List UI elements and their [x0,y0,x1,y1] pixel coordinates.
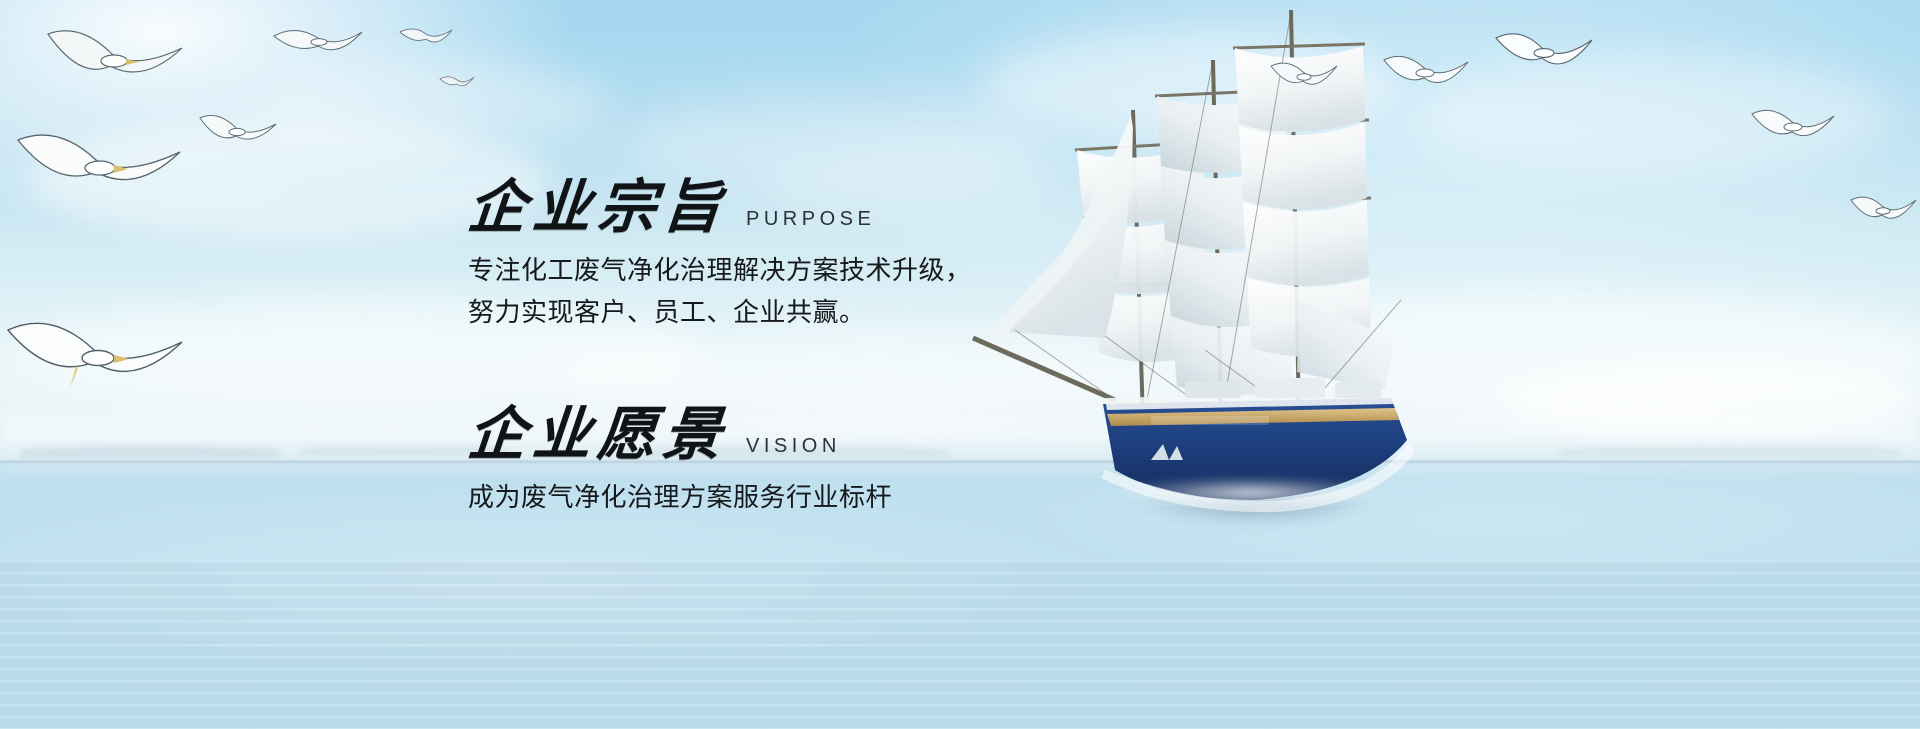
seagull-icon [1380,46,1472,100]
seagull-icon [196,106,280,158]
vision-block: 企业愿景 VISION 成为废气净化治理方案服务行业标杆 [468,405,1168,519]
purpose-heading-row: 企业宗旨 PURPOSE [468,178,1168,236]
seagull-icon [438,72,476,92]
sea-ripples-near [0,560,1920,729]
purpose-line-1: 专注化工废气净化治理解决方案技术升级， [468,252,1168,292]
vision-title-en: VISION [746,436,841,463]
vision-heading-row: 企业愿景 VISION [468,405,1168,463]
seagull-icon [40,18,190,104]
seagull-icon [1268,54,1340,98]
seagull-icon [12,118,188,214]
purpose-title-cn: 企业宗旨 [465,178,730,236]
seagull-icon [1492,22,1596,84]
purpose-title-en: PURPOSE [746,209,875,236]
seagull-icon [1748,100,1838,152]
seagull-icon [270,20,366,66]
seagull-icon [398,22,454,52]
banner-stage: 企业宗旨 PURPOSE 专注化工废气净化治理解决方案技术升级， 努力实现客户、… [0,0,1920,729]
distant-land [1560,446,1900,456]
seagull-icon [1848,188,1918,232]
banner-copy: 企业宗旨 PURPOSE 专注化工废气净化治理解决方案技术升级， 努力实现客户、… [468,178,1168,519]
purpose-line-2: 努力实现客户、员工、企业共赢。 [468,294,1168,334]
purpose-block: 企业宗旨 PURPOSE 专注化工废气净化治理解决方案技术升级， 努力实现客户、… [468,178,1168,333]
seagull-icon [0,300,190,410]
distant-land [20,446,280,458]
vision-line-1: 成为废气净化治理方案服务行业标杆 [468,479,1168,519]
vision-title-cn: 企业愿景 [465,405,730,463]
